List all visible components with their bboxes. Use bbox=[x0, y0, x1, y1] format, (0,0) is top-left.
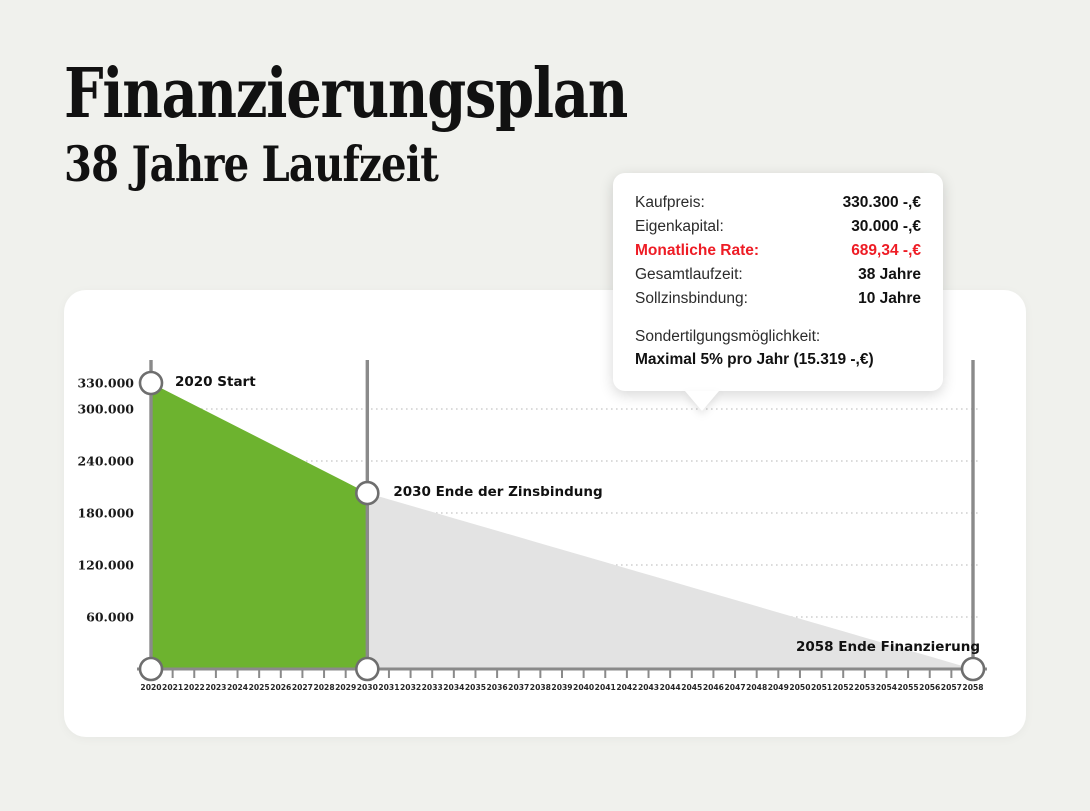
x-axis-label: 2040 bbox=[573, 683, 594, 692]
x-axis-label: 2031 bbox=[378, 683, 399, 692]
summary-row-value: 30.000 -,€ bbox=[851, 215, 921, 239]
x-axis-label: 2057 bbox=[941, 683, 962, 692]
summary-tooltip-card: Kaufpreis:330.300 -,€Eigenkapital:30.000… bbox=[613, 173, 943, 391]
y-axis-label: 330.000 bbox=[62, 376, 134, 391]
x-axis-label: 2053 bbox=[854, 683, 875, 692]
x-axis-label: 2056 bbox=[919, 683, 940, 692]
x-axis-label: 2020 bbox=[140, 683, 161, 692]
x-axis-label: 2033 bbox=[422, 683, 443, 692]
x-axis-label: 2030 bbox=[357, 683, 378, 692]
x-axis-label: 2027 bbox=[292, 683, 313, 692]
x-axis-label: 2037 bbox=[508, 683, 529, 692]
x-axis-label: 2043 bbox=[638, 683, 659, 692]
chart-annotation: 2030 Ende der Zinsbindung bbox=[393, 484, 602, 500]
x-axis-label: 2047 bbox=[724, 683, 745, 692]
x-axis-label: 2036 bbox=[487, 683, 508, 692]
x-axis-label: 2044 bbox=[660, 683, 681, 692]
summary-row-label: Kaufpreis: bbox=[635, 191, 705, 215]
summary-row-value: 10 Jahre bbox=[858, 287, 921, 311]
x-axis-label: 2050 bbox=[789, 683, 810, 692]
x-axis-label: 2046 bbox=[703, 683, 724, 692]
y-axis-label: 180.000 bbox=[62, 506, 134, 521]
x-axis-label: 2054 bbox=[876, 683, 897, 692]
summary-row-value: 330.300 -,€ bbox=[843, 191, 921, 215]
y-axis-label: 120.000 bbox=[62, 558, 134, 573]
x-axis-label: 2028 bbox=[313, 683, 334, 692]
special-repayment-label: Sondertilgungsmöglichkeit: bbox=[635, 328, 820, 345]
x-axis-label: 2023 bbox=[205, 683, 226, 692]
x-axis-label: 2052 bbox=[833, 683, 854, 692]
x-axis-label: 2051 bbox=[811, 683, 832, 692]
summary-row-label: Gesamtlaufzeit: bbox=[635, 263, 743, 287]
special-repayment-value: Maximal 5% pro Jahr (15.319 -,€) bbox=[635, 348, 921, 371]
y-axis-label: 300.000 bbox=[62, 402, 134, 417]
x-axis-label: 2029 bbox=[335, 683, 356, 692]
x-axis-label: 2055 bbox=[898, 683, 919, 692]
summary-row-value: 689,34 -,€ bbox=[851, 239, 921, 263]
chart-annotation: 2058 Ende Finanzierung bbox=[796, 639, 980, 655]
x-axis-label: 2045 bbox=[681, 683, 702, 692]
summary-row: Eigenkapital:30.000 -,€ bbox=[635, 215, 921, 239]
page-title: Finanzierungsplan bbox=[64, 56, 654, 132]
tooltip-pointer-icon bbox=[685, 391, 719, 411]
summary-rows: Kaufpreis:330.300 -,€Eigenkapital:30.000… bbox=[635, 191, 921, 311]
x-axis-label: 2038 bbox=[530, 683, 551, 692]
summary-row: Monatliche Rate:689,34 -,€ bbox=[635, 239, 921, 263]
x-axis-label: 2021 bbox=[162, 683, 183, 692]
summary-row: Gesamtlaufzeit:38 Jahre bbox=[635, 263, 921, 287]
chart-annotation: 2020 Start bbox=[175, 374, 256, 390]
x-axis-label: 2022 bbox=[184, 683, 205, 692]
x-axis-label: 2041 bbox=[595, 683, 616, 692]
summary-row-label: Eigenkapital: bbox=[635, 215, 724, 239]
y-axis-label: 60.000 bbox=[62, 610, 134, 625]
x-axis-label: 2039 bbox=[551, 683, 572, 692]
x-axis-label: 2024 bbox=[227, 683, 248, 692]
x-axis-label: 2032 bbox=[400, 683, 421, 692]
y-axis-label: 240.000 bbox=[62, 454, 134, 469]
page-subtitle: 38 Jahre Laufzeit bbox=[64, 134, 654, 194]
summary-row-label: Monatliche Rate: bbox=[635, 239, 759, 263]
x-axis-label: 2026 bbox=[270, 683, 291, 692]
x-axis-label: 2035 bbox=[465, 683, 486, 692]
summary-row: Kaufpreis:330.300 -,€ bbox=[635, 191, 921, 215]
x-axis-label: 2058 bbox=[962, 683, 983, 692]
special-repayment-note: Sondertilgungsmöglichkeit: Maximal 5% pr… bbox=[635, 325, 921, 371]
x-axis-label: 2042 bbox=[616, 683, 637, 692]
summary-row: Sollzinsbindung:10 Jahre bbox=[635, 287, 921, 311]
x-axis-label: 2025 bbox=[249, 683, 270, 692]
x-axis-label: 2049 bbox=[768, 683, 789, 692]
summary-row-value: 38 Jahre bbox=[858, 263, 921, 287]
x-axis-label: 2034 bbox=[443, 683, 464, 692]
summary-row-label: Sollzinsbindung: bbox=[635, 287, 748, 311]
x-axis-label: 2048 bbox=[746, 683, 767, 692]
